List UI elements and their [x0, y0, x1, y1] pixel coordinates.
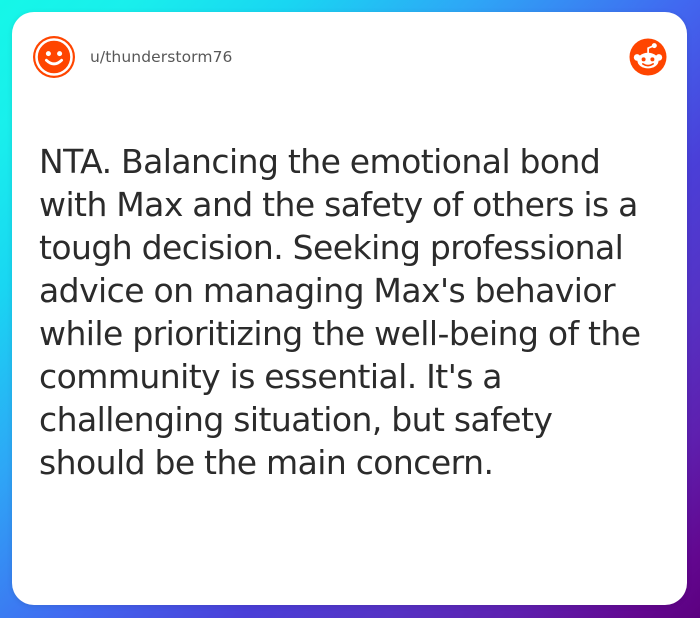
gradient-background: u/thunderstorm76 — [0, 0, 700, 618]
reddit-snoo-logo-icon[interactable] — [629, 38, 667, 76]
username-label: u/thunderstorm76 — [90, 48, 233, 66]
card-header: u/thunderstorm76 — [32, 32, 667, 82]
comment-card: u/thunderstorm76 — [12, 12, 687, 605]
smiley-face-avatar-icon[interactable] — [32, 35, 76, 79]
comment-body-text: NTA. Balancing the emotional bond with M… — [39, 140, 665, 484]
